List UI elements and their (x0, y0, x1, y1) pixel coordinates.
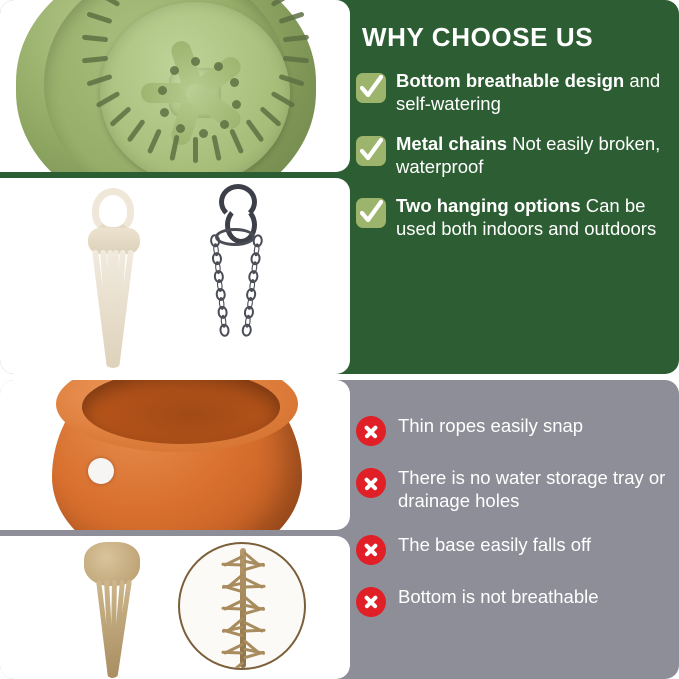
list-item: Bottom is not breathable (356, 585, 669, 617)
x-icon (356, 535, 386, 565)
cons-list: Thin ropes easily snap There is no water… (356, 398, 669, 617)
page-title: WHY CHOOSE US (362, 22, 669, 53)
pros-photo-column (0, 0, 350, 374)
list-item: There is no water storage tray or draina… (356, 466, 669, 513)
list-item: Metal chains Not easily broken, waterpro… (356, 132, 669, 179)
drainage-hole (88, 458, 114, 484)
check-icon (356, 198, 386, 228)
cons-item-label: Bottom is not breathable (398, 585, 599, 608)
list-item: Two hanging options Can be used both ind… (356, 194, 669, 241)
pros-item-strong: Two hanging options (396, 195, 581, 216)
photo-terracotta-pot (0, 380, 350, 530)
pros-item-strong: Metal chains (396, 133, 507, 154)
x-icon (356, 468, 386, 498)
list-item: Bottom breathable design and self-wateri… (356, 69, 669, 116)
cons-item-label: The base easily falls off (398, 533, 591, 556)
list-item: Thin ropes easily snap (356, 414, 669, 446)
pros-text-column: WHY CHOOSE US Bottom breathable design a… (350, 0, 679, 374)
list-item: The base easily falls off (356, 533, 669, 565)
comparison-infographic: WHY CHOOSE US Bottom breathable design a… (0, 0, 679, 679)
cons-item-label: There is no water storage tray or draina… (398, 466, 669, 513)
photo-frayed-jute-rope (0, 536, 350, 679)
x-icon (356, 587, 386, 617)
cons-photo-column (0, 380, 350, 679)
pros-item-strong: Bottom breathable design (396, 70, 624, 91)
cons-item-label: Thin ropes easily snap (398, 414, 583, 437)
pros-panel: WHY CHOOSE US Bottom breathable design a… (0, 0, 679, 374)
check-icon (356, 73, 386, 103)
cons-panel: Thin ropes easily snap There is no water… (0, 380, 679, 679)
check-icon (356, 136, 386, 166)
cons-text-column: Thin ropes easily snap There is no water… (350, 380, 679, 679)
photo-green-pot-drainage-plate (0, 0, 350, 172)
magnified-fray-detail (178, 542, 306, 670)
photo-rope-and-chain-hangers (0, 178, 350, 374)
x-icon (356, 416, 386, 446)
pros-list: Bottom breathable design and self-wateri… (356, 69, 669, 241)
